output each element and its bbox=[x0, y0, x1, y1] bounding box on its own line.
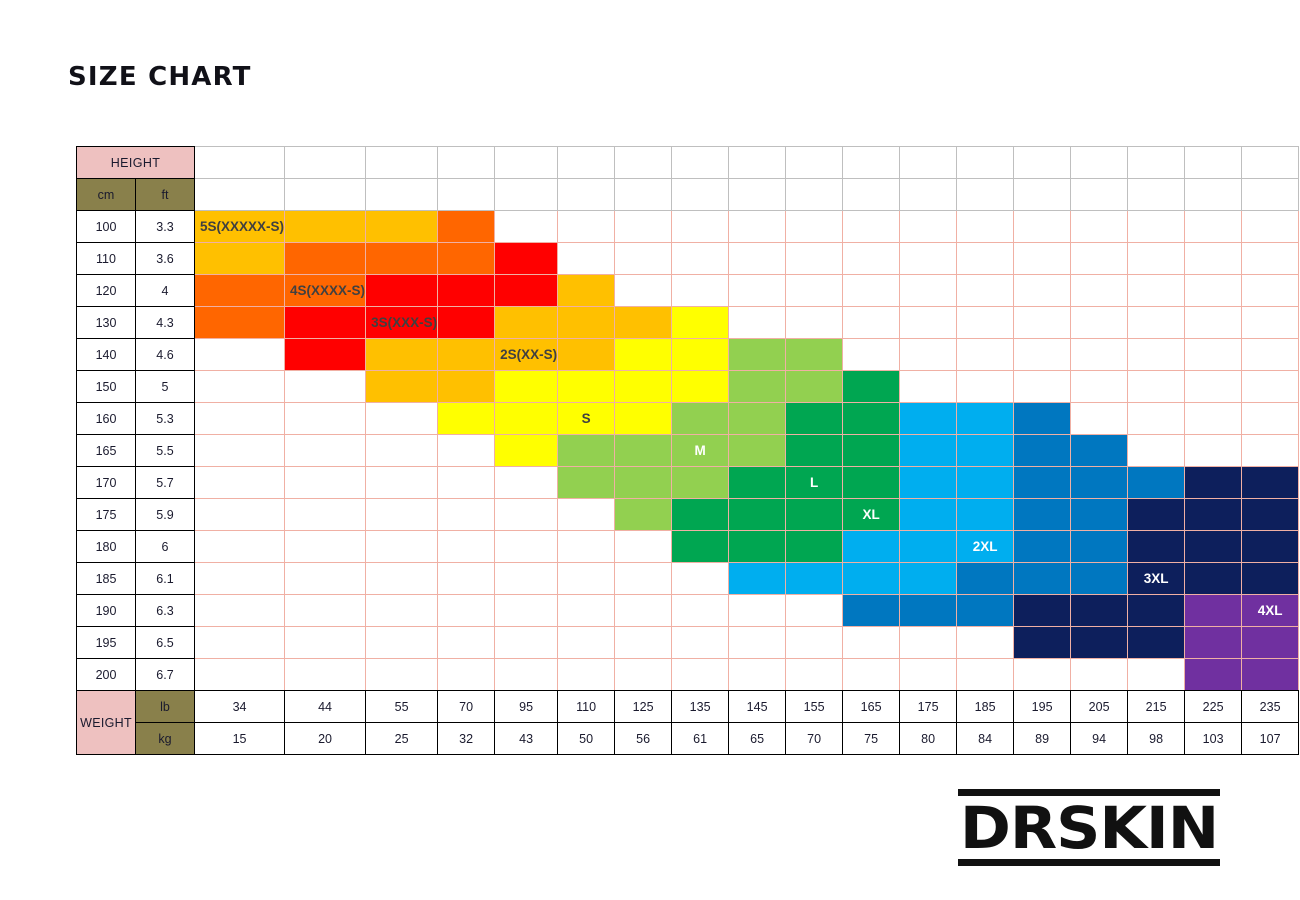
grid-cell-size bbox=[195, 307, 285, 339]
weight-lb-value: 235 bbox=[1242, 691, 1299, 723]
grid-cell-empty bbox=[438, 627, 495, 659]
grid-cell-empty bbox=[1242, 339, 1299, 371]
grid-cell-empty bbox=[729, 627, 786, 659]
grid-header-spacer bbox=[1014, 179, 1071, 211]
grid-header-spacer bbox=[672, 179, 729, 211]
grid-cell-empty bbox=[1014, 371, 1071, 403]
grid-cell-size bbox=[1185, 467, 1242, 499]
grid-header-spacer bbox=[1185, 147, 1242, 179]
page-title: SIZE CHART bbox=[68, 62, 252, 92]
grid-cell-empty bbox=[615, 275, 672, 307]
grid-cell-size bbox=[729, 499, 786, 531]
grid-cell-size bbox=[1128, 595, 1185, 627]
grid-cell-empty bbox=[366, 659, 438, 691]
grid-cell-size bbox=[957, 563, 1014, 595]
brand-logo: DRSKIN bbox=[958, 789, 1220, 866]
grid-cell-empty bbox=[900, 275, 957, 307]
grid-cell-size bbox=[729, 531, 786, 563]
grid-cell-empty bbox=[900, 371, 957, 403]
grid-cell-size bbox=[558, 467, 615, 499]
grid-cell-size bbox=[366, 275, 438, 307]
grid-cell-empty bbox=[195, 627, 285, 659]
grid-cell-empty bbox=[366, 467, 438, 499]
grid-cell-empty bbox=[1071, 275, 1128, 307]
grid-cell-empty bbox=[957, 627, 1014, 659]
grid-header-spacer bbox=[438, 179, 495, 211]
grid-cell-empty bbox=[285, 563, 366, 595]
grid-cell-size bbox=[1014, 499, 1071, 531]
grid-cell-empty bbox=[729, 243, 786, 275]
grid-cell-size bbox=[786, 435, 843, 467]
grid-cell-empty bbox=[729, 275, 786, 307]
weight-kg-value: 80 bbox=[900, 723, 957, 755]
grid-cell-size bbox=[558, 435, 615, 467]
weight-lb-value: 205 bbox=[1071, 691, 1128, 723]
weight-kg-value: 32 bbox=[438, 723, 495, 755]
grid-cell-empty bbox=[672, 211, 729, 243]
grid-cell-empty bbox=[1242, 307, 1299, 339]
grid-cell-empty bbox=[843, 243, 900, 275]
grid-header-spacer bbox=[957, 179, 1014, 211]
grid-cell-empty bbox=[558, 499, 615, 531]
grid-header-spacer bbox=[1071, 147, 1128, 179]
grid-cell-size bbox=[1014, 403, 1071, 435]
height-cm-value: 200 bbox=[77, 659, 136, 691]
grid-cell-empty bbox=[1128, 371, 1185, 403]
size-label-3sxxx-s: 3S(XXX-S) bbox=[366, 307, 438, 339]
grid-cell-size bbox=[957, 595, 1014, 627]
grid-cell-empty bbox=[1128, 435, 1185, 467]
weight-kg-value: 84 bbox=[957, 723, 1014, 755]
grid-cell-empty bbox=[558, 659, 615, 691]
weight-kg-value: 75 bbox=[843, 723, 900, 755]
grid-cell-empty bbox=[1071, 403, 1128, 435]
grid-header-spacer bbox=[615, 147, 672, 179]
grid-header-spacer bbox=[558, 179, 615, 211]
grid-cell-empty bbox=[558, 563, 615, 595]
height-ft-value: 3.3 bbox=[136, 211, 195, 243]
grid-cell-empty bbox=[900, 211, 957, 243]
unit-header-ft: ft bbox=[136, 179, 195, 211]
grid-cell-size bbox=[558, 339, 615, 371]
grid-cell-size bbox=[195, 243, 285, 275]
grid-header-spacer bbox=[957, 147, 1014, 179]
weight-kg-value: 50 bbox=[558, 723, 615, 755]
grid-cell-size bbox=[843, 403, 900, 435]
size-chart-container: HEIGHTcmft1003.35S(XXXXX-S)1103.612044S(… bbox=[76, 146, 1299, 755]
grid-cell-empty bbox=[957, 211, 1014, 243]
grid-cell-size bbox=[1185, 499, 1242, 531]
grid-cell-size bbox=[1242, 467, 1299, 499]
grid-cell-size bbox=[729, 403, 786, 435]
grid-cell-empty bbox=[1185, 211, 1242, 243]
grid-cell-empty bbox=[1185, 371, 1242, 403]
grid-cell-size bbox=[672, 499, 729, 531]
height-cm-value: 180 bbox=[77, 531, 136, 563]
size-label-4xl: 4XL bbox=[1242, 595, 1299, 627]
height-cm-value: 195 bbox=[77, 627, 136, 659]
grid-cell-size bbox=[900, 403, 957, 435]
grid-header-spacer bbox=[366, 147, 438, 179]
grid-cell-size bbox=[729, 467, 786, 499]
grid-cell-size bbox=[366, 243, 438, 275]
grid-cell-size bbox=[957, 499, 1014, 531]
grid-header-spacer bbox=[285, 147, 366, 179]
grid-cell-size bbox=[786, 403, 843, 435]
grid-cell-empty bbox=[900, 307, 957, 339]
grid-cell-empty bbox=[366, 403, 438, 435]
weight-group-header: WEIGHT bbox=[77, 691, 136, 755]
grid-cell-empty bbox=[957, 307, 1014, 339]
grid-cell-empty bbox=[1242, 371, 1299, 403]
size-label-2xl: 2XL bbox=[957, 531, 1014, 563]
grid-cell-size bbox=[1242, 531, 1299, 563]
weight-lb-value: 34 bbox=[195, 691, 285, 723]
grid-header-spacer bbox=[1071, 179, 1128, 211]
grid-cell-empty bbox=[615, 243, 672, 275]
grid-cell-size bbox=[1071, 499, 1128, 531]
grid-header-spacer bbox=[1128, 147, 1185, 179]
grid-cell-empty bbox=[615, 531, 672, 563]
grid-header-spacer bbox=[843, 179, 900, 211]
grid-cell-empty bbox=[195, 403, 285, 435]
grid-cell-size bbox=[1014, 595, 1071, 627]
grid-cell-empty bbox=[366, 563, 438, 595]
height-cm-value: 160 bbox=[77, 403, 136, 435]
grid-cell-size bbox=[1242, 659, 1299, 691]
weight-kg-value: 89 bbox=[1014, 723, 1071, 755]
weight-kg-value: 61 bbox=[672, 723, 729, 755]
grid-cell-size bbox=[672, 403, 729, 435]
grid-cell-empty bbox=[843, 339, 900, 371]
grid-cell-size bbox=[438, 275, 495, 307]
height-cm-value: 175 bbox=[77, 499, 136, 531]
grid-cell-size bbox=[1071, 595, 1128, 627]
grid-cell-size bbox=[1071, 563, 1128, 595]
grid-cell-size bbox=[729, 339, 786, 371]
grid-cell-size bbox=[195, 275, 285, 307]
grid-cell-empty bbox=[1242, 403, 1299, 435]
unit-header-cm: cm bbox=[77, 179, 136, 211]
grid-header-spacer bbox=[1014, 147, 1071, 179]
grid-cell-empty bbox=[615, 211, 672, 243]
grid-cell-empty bbox=[1128, 403, 1185, 435]
height-cm-value: 165 bbox=[77, 435, 136, 467]
grid-cell-empty bbox=[285, 627, 366, 659]
grid-cell-empty bbox=[495, 499, 558, 531]
weight-lb-value: 155 bbox=[786, 691, 843, 723]
weight-kg-value: 94 bbox=[1071, 723, 1128, 755]
grid-cell-empty bbox=[285, 403, 366, 435]
height-cm-value: 120 bbox=[77, 275, 136, 307]
grid-cell-empty bbox=[672, 243, 729, 275]
height-ft-value: 5.3 bbox=[136, 403, 195, 435]
grid-cell-empty bbox=[558, 243, 615, 275]
height-ft-value: 6.5 bbox=[136, 627, 195, 659]
grid-cell-size bbox=[843, 467, 900, 499]
grid-cell-empty bbox=[615, 659, 672, 691]
grid-cell-empty bbox=[285, 595, 366, 627]
grid-cell-size bbox=[615, 307, 672, 339]
grid-cell-empty bbox=[495, 659, 558, 691]
grid-cell-empty bbox=[957, 659, 1014, 691]
grid-cell-empty bbox=[195, 659, 285, 691]
grid-cell-size bbox=[1014, 627, 1071, 659]
grid-cell-empty bbox=[366, 627, 438, 659]
height-cm-value: 140 bbox=[77, 339, 136, 371]
height-cm-value: 130 bbox=[77, 307, 136, 339]
grid-cell-size bbox=[438, 243, 495, 275]
grid-cell-empty bbox=[1185, 307, 1242, 339]
grid-cell-empty bbox=[1185, 339, 1242, 371]
grid-cell-empty bbox=[843, 307, 900, 339]
grid-cell-size bbox=[1242, 563, 1299, 595]
grid-cell-empty bbox=[1185, 403, 1242, 435]
height-cm-value: 185 bbox=[77, 563, 136, 595]
grid-cell-empty bbox=[729, 595, 786, 627]
grid-cell-empty bbox=[786, 659, 843, 691]
grid-cell-size bbox=[1071, 467, 1128, 499]
grid-cell-empty bbox=[1128, 659, 1185, 691]
grid-cell-size bbox=[438, 211, 495, 243]
weight-kg-value: 98 bbox=[1128, 723, 1185, 755]
grid-cell-empty bbox=[438, 531, 495, 563]
weight-lb-value: 175 bbox=[900, 691, 957, 723]
grid-cell-empty bbox=[438, 467, 495, 499]
grid-header-spacer bbox=[786, 179, 843, 211]
grid-cell-empty bbox=[366, 531, 438, 563]
weight-lb-value: 215 bbox=[1128, 691, 1185, 723]
grid-cell-empty bbox=[1128, 307, 1185, 339]
height-ft-value: 4 bbox=[136, 275, 195, 307]
height-cm-value: 110 bbox=[77, 243, 136, 275]
grid-cell-empty bbox=[195, 435, 285, 467]
logo-wordmark: DRSKIN bbox=[950, 799, 1228, 857]
grid-cell-size bbox=[1071, 531, 1128, 563]
grid-header-spacer bbox=[786, 147, 843, 179]
grid-cell-size bbox=[558, 307, 615, 339]
grid-cell-size bbox=[1128, 499, 1185, 531]
grid-cell-empty bbox=[366, 435, 438, 467]
grid-cell-empty bbox=[957, 275, 1014, 307]
grid-cell-size bbox=[1014, 467, 1071, 499]
weight-kg-value: 43 bbox=[495, 723, 558, 755]
grid-cell-empty bbox=[558, 531, 615, 563]
grid-cell-empty bbox=[1014, 307, 1071, 339]
unit-header-kg: kg bbox=[136, 723, 195, 755]
grid-cell-empty bbox=[1071, 339, 1128, 371]
grid-cell-empty bbox=[1242, 243, 1299, 275]
weight-kg-value: 65 bbox=[729, 723, 786, 755]
weight-kg-value: 70 bbox=[786, 723, 843, 755]
grid-cell-size bbox=[672, 371, 729, 403]
height-ft-value: 6.3 bbox=[136, 595, 195, 627]
grid-cell-empty bbox=[1071, 307, 1128, 339]
grid-header-spacer bbox=[438, 147, 495, 179]
size-label-l: L bbox=[786, 467, 843, 499]
grid-cell-size bbox=[900, 595, 957, 627]
grid-cell-empty bbox=[786, 243, 843, 275]
grid-cell-size bbox=[285, 339, 366, 371]
grid-cell-empty bbox=[1071, 211, 1128, 243]
grid-cell-empty bbox=[195, 339, 285, 371]
size-label-3xl: 3XL bbox=[1128, 563, 1185, 595]
height-ft-value: 6 bbox=[136, 531, 195, 563]
grid-cell-size bbox=[786, 563, 843, 595]
height-cm-value: 190 bbox=[77, 595, 136, 627]
grid-cell-empty bbox=[1128, 275, 1185, 307]
grid-cell-size bbox=[1014, 563, 1071, 595]
grid-cell-empty bbox=[672, 563, 729, 595]
weight-lb-value: 95 bbox=[495, 691, 558, 723]
grid-cell-size bbox=[1185, 627, 1242, 659]
height-ft-value: 5.5 bbox=[136, 435, 195, 467]
grid-cell-empty bbox=[495, 627, 558, 659]
grid-header-spacer bbox=[729, 147, 786, 179]
height-ft-value: 4.3 bbox=[136, 307, 195, 339]
height-ft-value: 5.7 bbox=[136, 467, 195, 499]
size-label-2sxx-s: 2S(XX-S) bbox=[495, 339, 558, 371]
grid-cell-empty bbox=[1185, 275, 1242, 307]
grid-cell-size bbox=[1185, 563, 1242, 595]
grid-cell-empty bbox=[438, 499, 495, 531]
grid-cell-empty bbox=[957, 371, 1014, 403]
height-ft-value: 3.6 bbox=[136, 243, 195, 275]
grid-cell-size bbox=[786, 371, 843, 403]
grid-cell-empty bbox=[285, 371, 366, 403]
weight-lb-value: 165 bbox=[843, 691, 900, 723]
weight-lb-value: 70 bbox=[438, 691, 495, 723]
grid-cell-empty bbox=[195, 467, 285, 499]
grid-cell-size bbox=[672, 339, 729, 371]
grid-cell-size bbox=[366, 339, 438, 371]
grid-cell-size bbox=[900, 435, 957, 467]
grid-header-spacer bbox=[1128, 179, 1185, 211]
size-label-5sxxxxx-s: 5S(XXXXX-S) bbox=[195, 211, 285, 243]
grid-cell-empty bbox=[438, 595, 495, 627]
grid-cell-empty bbox=[786, 275, 843, 307]
grid-cell-size bbox=[729, 435, 786, 467]
grid-cell-empty bbox=[285, 467, 366, 499]
grid-cell-size bbox=[558, 275, 615, 307]
grid-cell-empty bbox=[1014, 275, 1071, 307]
grid-header-spacer bbox=[1242, 147, 1299, 179]
grid-cell-empty bbox=[786, 211, 843, 243]
grid-cell-empty bbox=[615, 627, 672, 659]
grid-cell-empty bbox=[672, 627, 729, 659]
grid-cell-empty bbox=[615, 595, 672, 627]
grid-cell-size bbox=[1128, 467, 1185, 499]
grid-cell-empty bbox=[438, 435, 495, 467]
grid-cell-size bbox=[366, 371, 438, 403]
grid-cell-size bbox=[786, 339, 843, 371]
grid-cell-size bbox=[366, 211, 438, 243]
grid-cell-empty bbox=[1128, 243, 1185, 275]
grid-cell-size bbox=[900, 563, 957, 595]
weight-lb-value: 145 bbox=[729, 691, 786, 723]
grid-cell-size bbox=[843, 435, 900, 467]
grid-cell-size bbox=[615, 403, 672, 435]
grid-cell-size bbox=[1185, 531, 1242, 563]
grid-cell-size bbox=[495, 435, 558, 467]
grid-cell-empty bbox=[558, 595, 615, 627]
height-cm-value: 100 bbox=[77, 211, 136, 243]
grid-cell-empty bbox=[1014, 339, 1071, 371]
grid-cell-empty bbox=[729, 307, 786, 339]
weight-lb-value: 55 bbox=[366, 691, 438, 723]
grid-header-spacer bbox=[1242, 179, 1299, 211]
size-label-s: S bbox=[558, 403, 615, 435]
grid-header-spacer bbox=[285, 179, 366, 211]
grid-cell-empty bbox=[1128, 339, 1185, 371]
grid-cell-size bbox=[285, 243, 366, 275]
grid-cell-size bbox=[900, 531, 957, 563]
grid-cell-empty bbox=[195, 531, 285, 563]
grid-cell-size bbox=[1185, 595, 1242, 627]
grid-cell-size bbox=[438, 307, 495, 339]
grid-cell-empty bbox=[1242, 435, 1299, 467]
grid-cell-empty bbox=[1014, 659, 1071, 691]
grid-header-spacer bbox=[1185, 179, 1242, 211]
grid-cell-size bbox=[615, 371, 672, 403]
grid-cell-empty bbox=[900, 339, 957, 371]
grid-cell-empty bbox=[285, 531, 366, 563]
grid-cell-empty bbox=[1128, 211, 1185, 243]
grid-cell-empty bbox=[495, 595, 558, 627]
grid-cell-size bbox=[843, 563, 900, 595]
grid-cell-size bbox=[786, 499, 843, 531]
grid-cell-empty bbox=[900, 659, 957, 691]
height-cm-value: 170 bbox=[77, 467, 136, 499]
grid-cell-size bbox=[615, 339, 672, 371]
grid-cell-size bbox=[729, 563, 786, 595]
grid-cell-size bbox=[957, 403, 1014, 435]
grid-cell-size bbox=[615, 499, 672, 531]
grid-cell-empty bbox=[1071, 243, 1128, 275]
grid-header-spacer bbox=[615, 179, 672, 211]
grid-header-spacer bbox=[558, 147, 615, 179]
grid-cell-empty bbox=[786, 627, 843, 659]
size-label-xl: XL bbox=[843, 499, 900, 531]
grid-cell-size bbox=[495, 243, 558, 275]
grid-cell-empty bbox=[615, 563, 672, 595]
weight-lb-value: 185 bbox=[957, 691, 1014, 723]
grid-cell-size bbox=[495, 371, 558, 403]
grid-cell-empty bbox=[786, 595, 843, 627]
grid-cell-size bbox=[1242, 627, 1299, 659]
grid-cell-empty bbox=[366, 499, 438, 531]
grid-cell-empty bbox=[843, 211, 900, 243]
grid-cell-empty bbox=[495, 531, 558, 563]
grid-header-spacer bbox=[729, 179, 786, 211]
grid-cell-size bbox=[729, 371, 786, 403]
height-ft-value: 6.7 bbox=[136, 659, 195, 691]
grid-cell-empty bbox=[1185, 243, 1242, 275]
weight-lb-value: 125 bbox=[615, 691, 672, 723]
grid-cell-empty bbox=[195, 499, 285, 531]
grid-cell-empty bbox=[843, 275, 900, 307]
grid-header-spacer bbox=[900, 179, 957, 211]
grid-cell-empty bbox=[1242, 211, 1299, 243]
grid-cell-size bbox=[672, 307, 729, 339]
grid-cell-empty bbox=[285, 435, 366, 467]
grid-cell-empty bbox=[195, 371, 285, 403]
grid-cell-empty bbox=[495, 211, 558, 243]
grid-header-spacer bbox=[672, 147, 729, 179]
grid-cell-empty bbox=[957, 339, 1014, 371]
weight-kg-value: 103 bbox=[1185, 723, 1242, 755]
grid-header-spacer bbox=[495, 179, 558, 211]
